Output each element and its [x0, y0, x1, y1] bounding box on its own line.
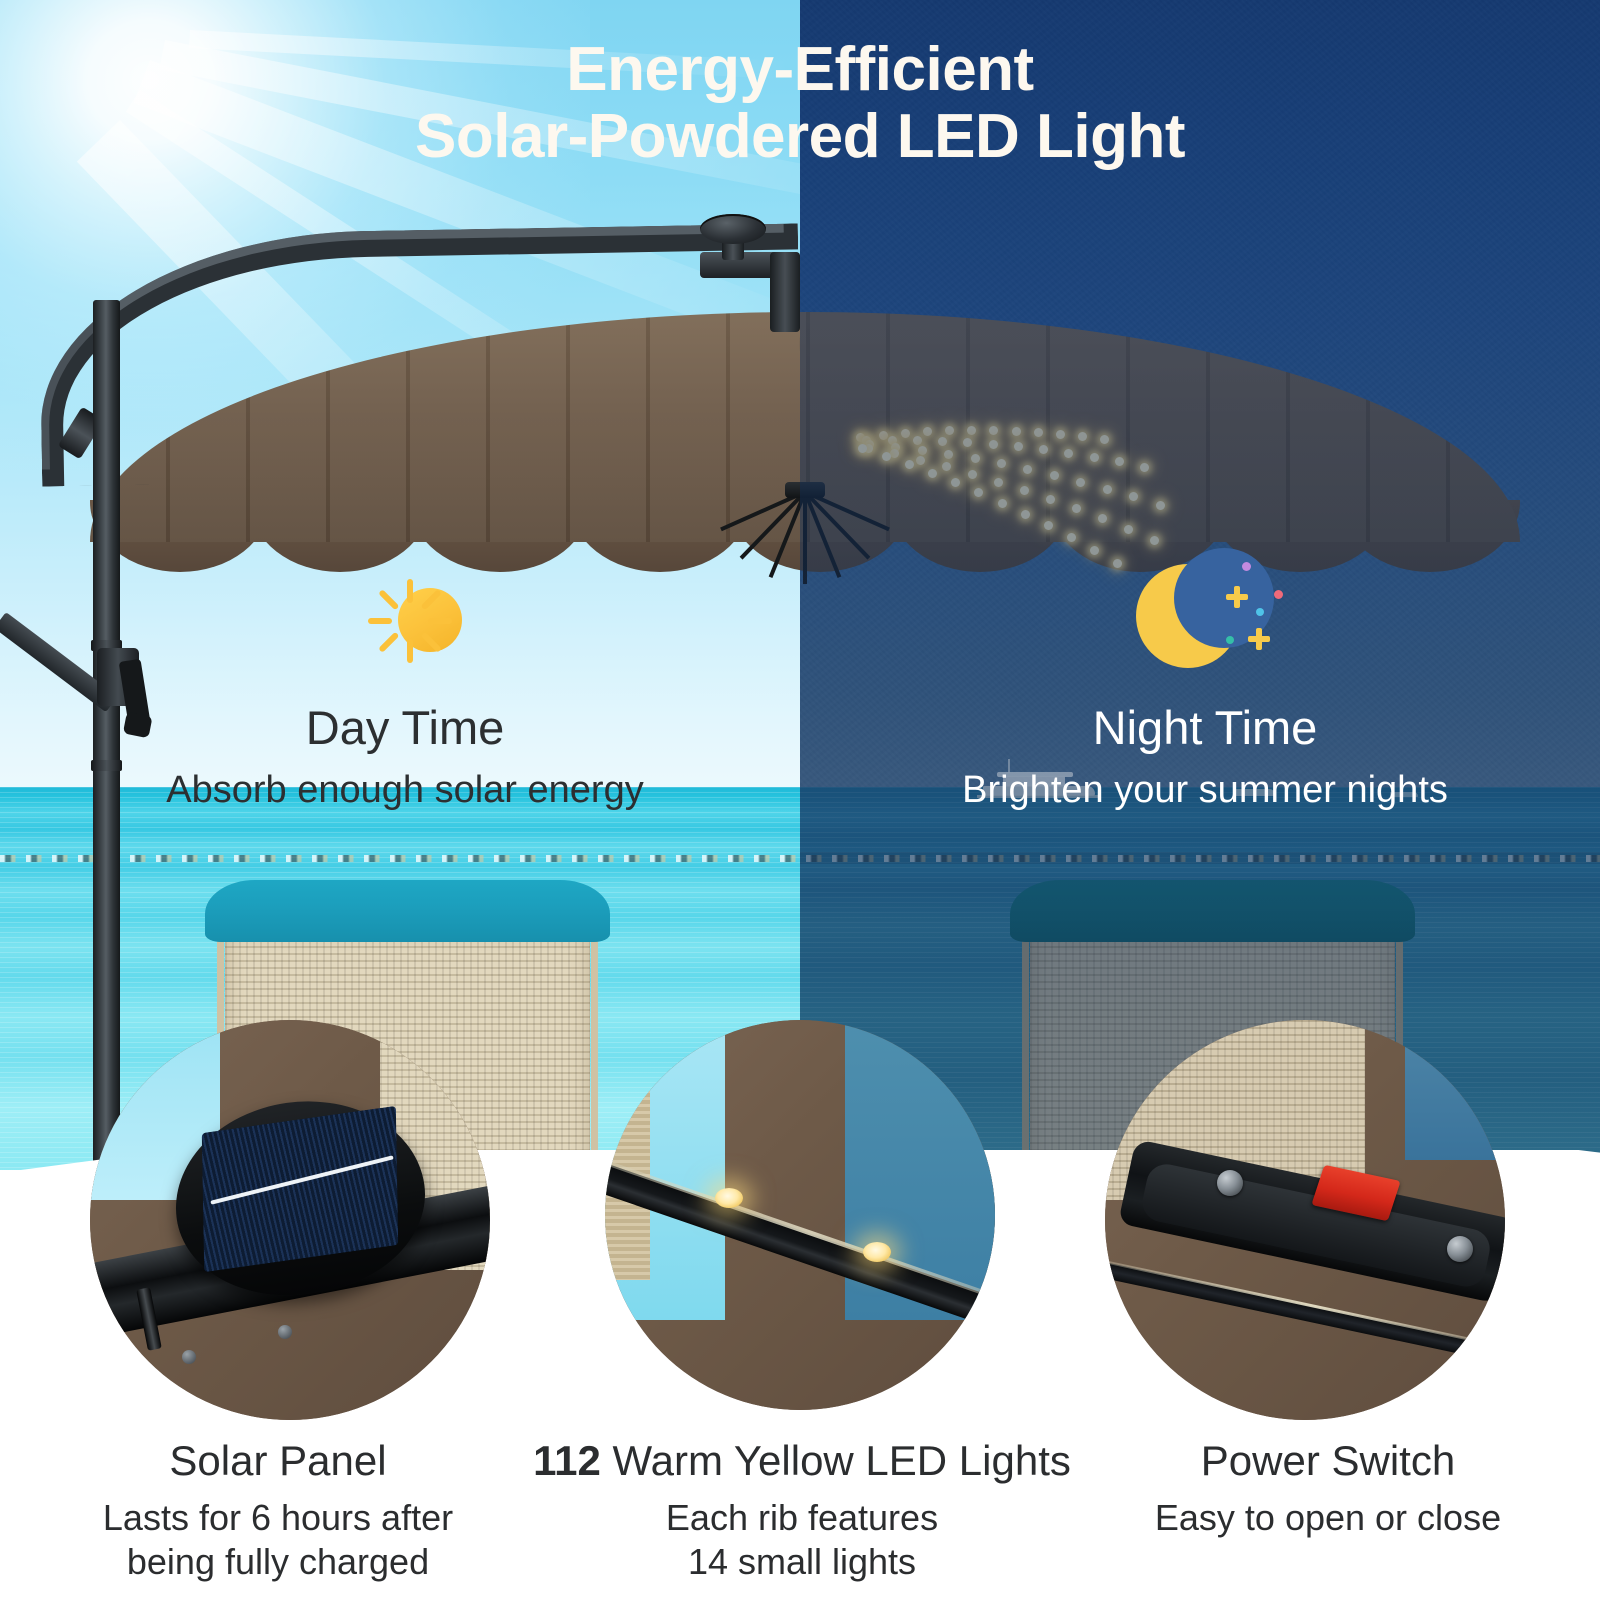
led-dot [918, 446, 927, 455]
day-subtitle: Absorb enough solar energy [55, 769, 755, 812]
led-dot [916, 456, 925, 465]
feature-title: Solar Panel [18, 1438, 538, 1484]
feature-subtitle-line-1: Easy to open or close [1155, 1497, 1501, 1538]
led-dot [989, 440, 998, 449]
led-dot [1076, 478, 1085, 487]
feature-subtitle-line-1: Lasts for 6 hours after [103, 1497, 453, 1538]
led-dot [913, 436, 922, 445]
feature-title-rest: Warm Yellow LED Lights [601, 1437, 1071, 1484]
feature-subtitle-line-1: Each rib features [666, 1497, 938, 1538]
moon-icon [1130, 552, 1280, 682]
led-dot [1034, 428, 1043, 437]
led-dot [938, 437, 947, 446]
led-dot [1140, 463, 1149, 472]
led-dot [1156, 501, 1165, 510]
led-dot [971, 454, 980, 463]
infographic-canvas: Energy-Efficient Solar-Powdered LED Ligh… [0, 0, 1600, 1600]
day-title: Day Time [55, 700, 755, 755]
headline-line-2: Solar-Powdered LED Light [0, 102, 1600, 171]
led-dot [998, 499, 1007, 508]
feature-caption-solar-panel: Solar Panel Lasts for 6 hours after bein… [18, 1438, 538, 1584]
led-dot [967, 426, 976, 435]
feature-title: Power Switch [1068, 1438, 1588, 1484]
feature-title: 112 Warm Yellow LED Lights [478, 1438, 1126, 1484]
night-title: Night Time [855, 700, 1555, 755]
headline-line-1: Energy-Efficient [0, 38, 1600, 102]
led-dot [1090, 453, 1099, 462]
led-dot [968, 470, 977, 479]
night-mode-labels: Night Time Brighten your summer nights [855, 700, 1555, 812]
solar-panel-detail-icon [90, 1020, 490, 1420]
led-dot [1103, 485, 1112, 494]
day-mode-labels: Day Time Absorb enough solar energy [55, 700, 755, 812]
sun-icon [370, 560, 490, 680]
feature-subtitle: Lasts for 6 hours after being fully char… [18, 1496, 538, 1584]
led-dot [901, 429, 910, 438]
led-dot [882, 452, 891, 461]
led-dot [1050, 471, 1059, 480]
feature-caption-power-switch: Power Switch Easy to open or close [1068, 1438, 1588, 1540]
led-dot [1021, 510, 1030, 519]
led-dot [923, 427, 932, 436]
feature-title-number: 112 [533, 1437, 601, 1484]
led-light-detail-icon [605, 1020, 995, 1410]
led-dot [1046, 495, 1055, 504]
led-dot [1056, 430, 1065, 439]
feature-subtitle: Easy to open or close [1068, 1496, 1588, 1540]
led-dot [1078, 432, 1087, 441]
feature-subtitle: Each rib features 14 small lights [478, 1496, 1126, 1584]
led-dot [1012, 427, 1021, 436]
night-subtitle: Brighten your summer nights [855, 769, 1555, 812]
feature-caption-led-lights: 112 Warm Yellow LED Lights Each rib feat… [478, 1438, 1126, 1584]
led-dot [879, 431, 888, 440]
headline: Energy-Efficient Solar-Powdered LED Ligh… [0, 38, 1600, 172]
led-dot [905, 460, 914, 469]
power-switch-detail-icon [1105, 1020, 1505, 1420]
led-dot [994, 478, 1003, 487]
led-dot [928, 469, 937, 478]
arm-elbow-joint [770, 252, 800, 332]
feature-subtitle-line-2: 14 small lights [688, 1541, 916, 1582]
feature-subtitle-line-2: being fully charged [127, 1541, 429, 1582]
solar-panel-head-icon [700, 214, 766, 244]
led-dot [1020, 486, 1029, 495]
